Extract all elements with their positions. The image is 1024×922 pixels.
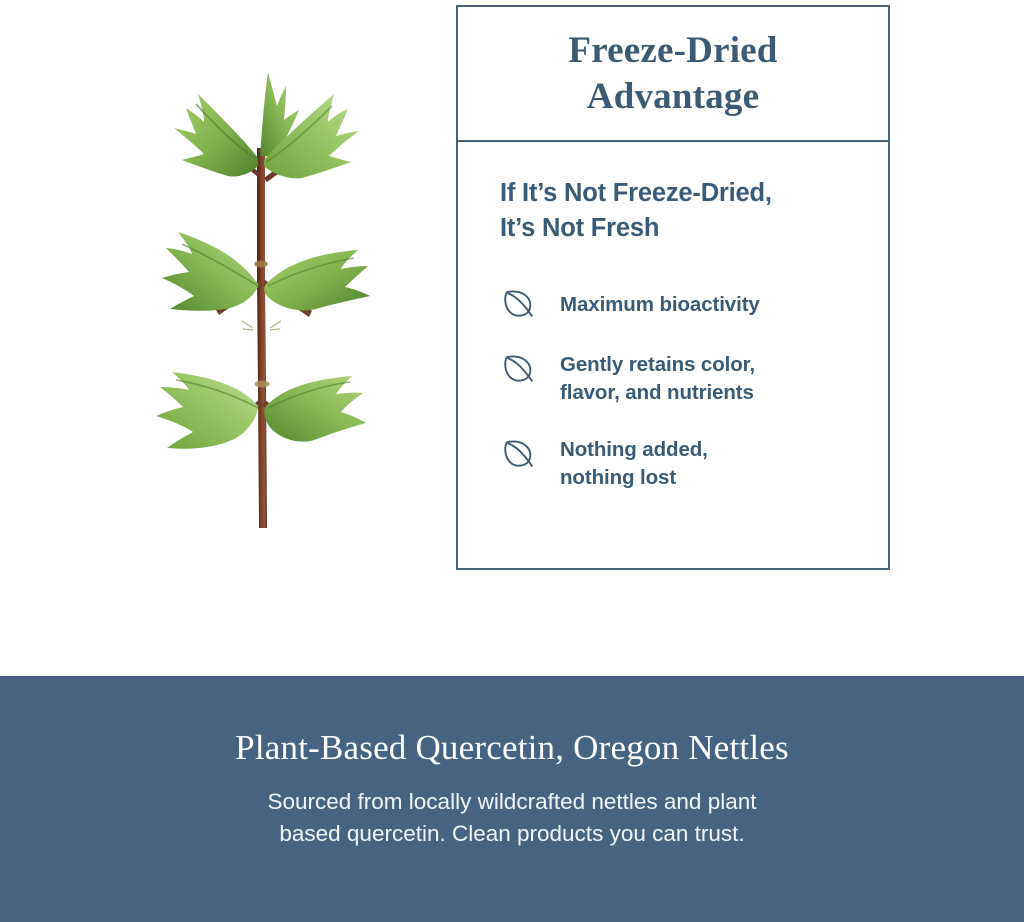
benefit-item-maximum-bioactivity: Maximum bioactivity	[500, 282, 858, 322]
card-header: Freeze-Dried Advantage	[458, 7, 888, 142]
benefit-label: Gently retains color, flavor, and nutrie…	[560, 347, 755, 407]
bottom-banner: Plant-Based Quercetin, Oregon Nettles So…	[0, 676, 1024, 922]
card-subtitle: If It’s Not Freeze-Dried, It’s Not Fresh	[500, 176, 858, 246]
leaf-icon	[500, 349, 538, 387]
banner-heading: Plant-Based Quercetin, Oregon Nettles	[0, 676, 1024, 768]
freeze-dried-advantage-card: Freeze-Dried Advantage If It’s Not Freez…	[456, 5, 890, 570]
nettle-plant-image	[120, 28, 420, 548]
benefit-item-nothing-added: Nothing added, nothing lost	[500, 432, 858, 492]
leaf-icon	[500, 284, 538, 322]
benefit-label: Maximum bioactivity	[560, 282, 760, 319]
top-content-area: Freeze-Dried Advantage If It’s Not Freez…	[0, 0, 1024, 676]
benefit-label: Nothing added, nothing lost	[560, 432, 708, 492]
leaf-icon	[500, 434, 538, 472]
card-body: If It’s Not Freeze-Dried, It’s Not Fresh…	[458, 142, 888, 492]
benefit-item-gently-retains: Gently retains color, flavor, and nutrie…	[500, 347, 858, 407]
card-title: Freeze-Dried Advantage	[550, 28, 795, 118]
banner-subtext: Sourced from locally wildcrafted nettles…	[162, 786, 862, 850]
